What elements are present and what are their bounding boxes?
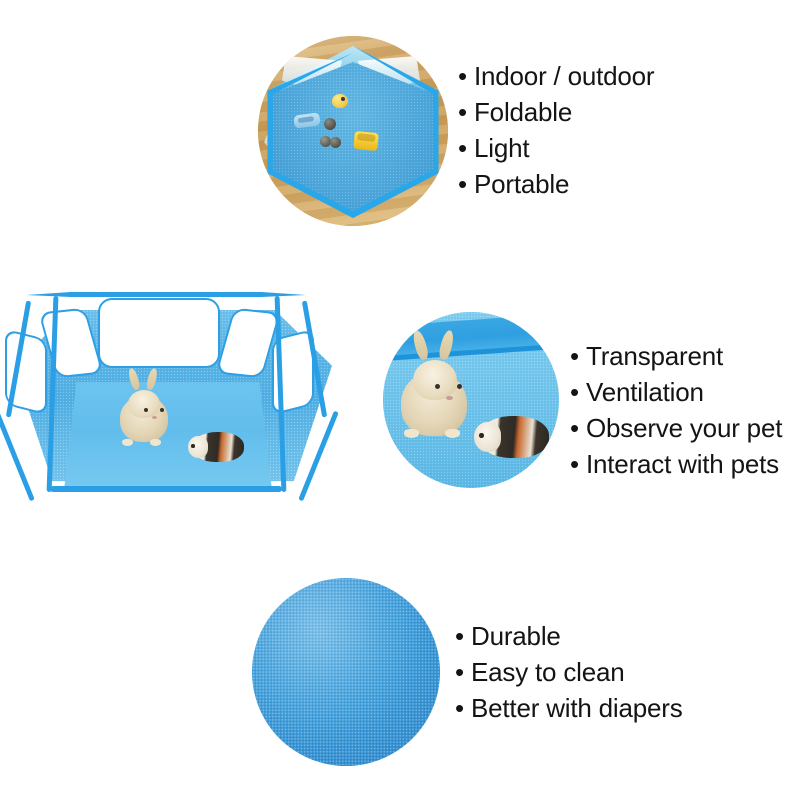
bullet-icon: •: [458, 166, 474, 202]
frame-pole-bottom-rail: [50, 486, 282, 492]
feature-label: Transparent: [586, 338, 723, 374]
rabbit-head: [128, 390, 160, 418]
rabbit-eye-right: [160, 408, 164, 412]
guinea-pig-eye: [191, 444, 195, 448]
fabric-swatch-image: [252, 578, 440, 766]
feature-list-middle: • Transparent • Ventilation • Observe yo…: [570, 338, 782, 482]
feature-item-indoor-outdoor: • Indoor / outdoor: [458, 58, 654, 94]
bullet-icon: •: [570, 410, 586, 446]
pets-closeup-image: [383, 312, 559, 488]
yellow-box-toy: [353, 131, 379, 151]
grey-pet-c: [330, 137, 341, 148]
feature-item-better-with-diapers: • Better with diapers: [455, 690, 683, 726]
feature-label: Interact with pets: [586, 446, 779, 482]
feature-item-durable: • Durable: [455, 618, 683, 654]
feature-label: Ventilation: [586, 374, 704, 410]
feature-label: Better with diapers: [471, 690, 683, 726]
feature-item-observe-your-pet: • Observe your pet: [570, 410, 782, 446]
grey-pet-a: [324, 118, 336, 130]
bullet-icon: •: [570, 374, 586, 410]
rabbit-paw-right: [445, 429, 460, 438]
feature-label: Indoor / outdoor: [474, 58, 654, 94]
rabbit-in-playpen: [118, 382, 170, 444]
feature-label: Easy to clean: [471, 654, 625, 690]
fabric-sheen-highlight: [252, 578, 440, 766]
feature-list-bottom: • Durable • Easy to clean • Better with …: [455, 618, 683, 726]
bullet-icon: •: [458, 130, 474, 166]
feature-label: Observe your pet: [586, 410, 782, 446]
guinea-pig-head: [474, 422, 501, 452]
feature-item-portable: • Portable: [458, 166, 654, 202]
rabbit-paw-left: [122, 439, 133, 446]
yellow-bird-toy: [332, 94, 348, 108]
feature-item-light: • Light: [458, 130, 654, 166]
rabbit-paw-right: [150, 439, 161, 446]
rabbit-head: [413, 360, 457, 400]
rabbit-eye-right: [457, 384, 462, 389]
rabbit-eye-left: [144, 408, 148, 412]
bullet-icon: •: [458, 94, 474, 130]
guinea-pig-eye: [479, 433, 484, 438]
rabbit-eye-left: [435, 384, 440, 389]
rabbit-nose: [446, 396, 453, 400]
rabbit-closeup: [399, 350, 469, 436]
feature-label: Durable: [471, 618, 561, 654]
bullet-icon: •: [455, 654, 471, 690]
feature-item-transparent: • Transparent: [570, 338, 782, 374]
bullet-icon: •: [458, 58, 474, 94]
feature-label: Foldable: [474, 94, 572, 130]
feature-label: Light: [474, 130, 529, 166]
feature-item-foldable: • Foldable: [458, 94, 654, 130]
guinea-pig-in-playpen: [192, 432, 244, 462]
feature-item-ventilation: • Ventilation: [570, 374, 782, 410]
mesh-window-center: [98, 298, 220, 368]
bullet-icon: •: [455, 690, 471, 726]
guinea-pig-closeup: [479, 416, 549, 458]
rabbit-paw-left: [404, 429, 419, 438]
bullet-icon: •: [455, 618, 471, 654]
bullet-icon: •: [570, 338, 586, 374]
frame-pole-top-rail: [26, 292, 306, 297]
rabbit-nose: [152, 416, 157, 419]
feature-list-top: • Indoor / outdoor • Foldable • Light • …: [458, 58, 654, 202]
feature-item-interact-with-pets: • Interact with pets: [570, 446, 782, 482]
guinea-pig-head: [188, 436, 208, 458]
playpen-top-down-image: [258, 36, 448, 226]
bullet-icon: •: [570, 446, 586, 482]
infographic-canvas: • Indoor / outdoor • Foldable • Light • …: [0, 0, 800, 800]
feature-item-easy-to-clean: • Easy to clean: [455, 654, 683, 690]
feature-label: Portable: [474, 166, 569, 202]
